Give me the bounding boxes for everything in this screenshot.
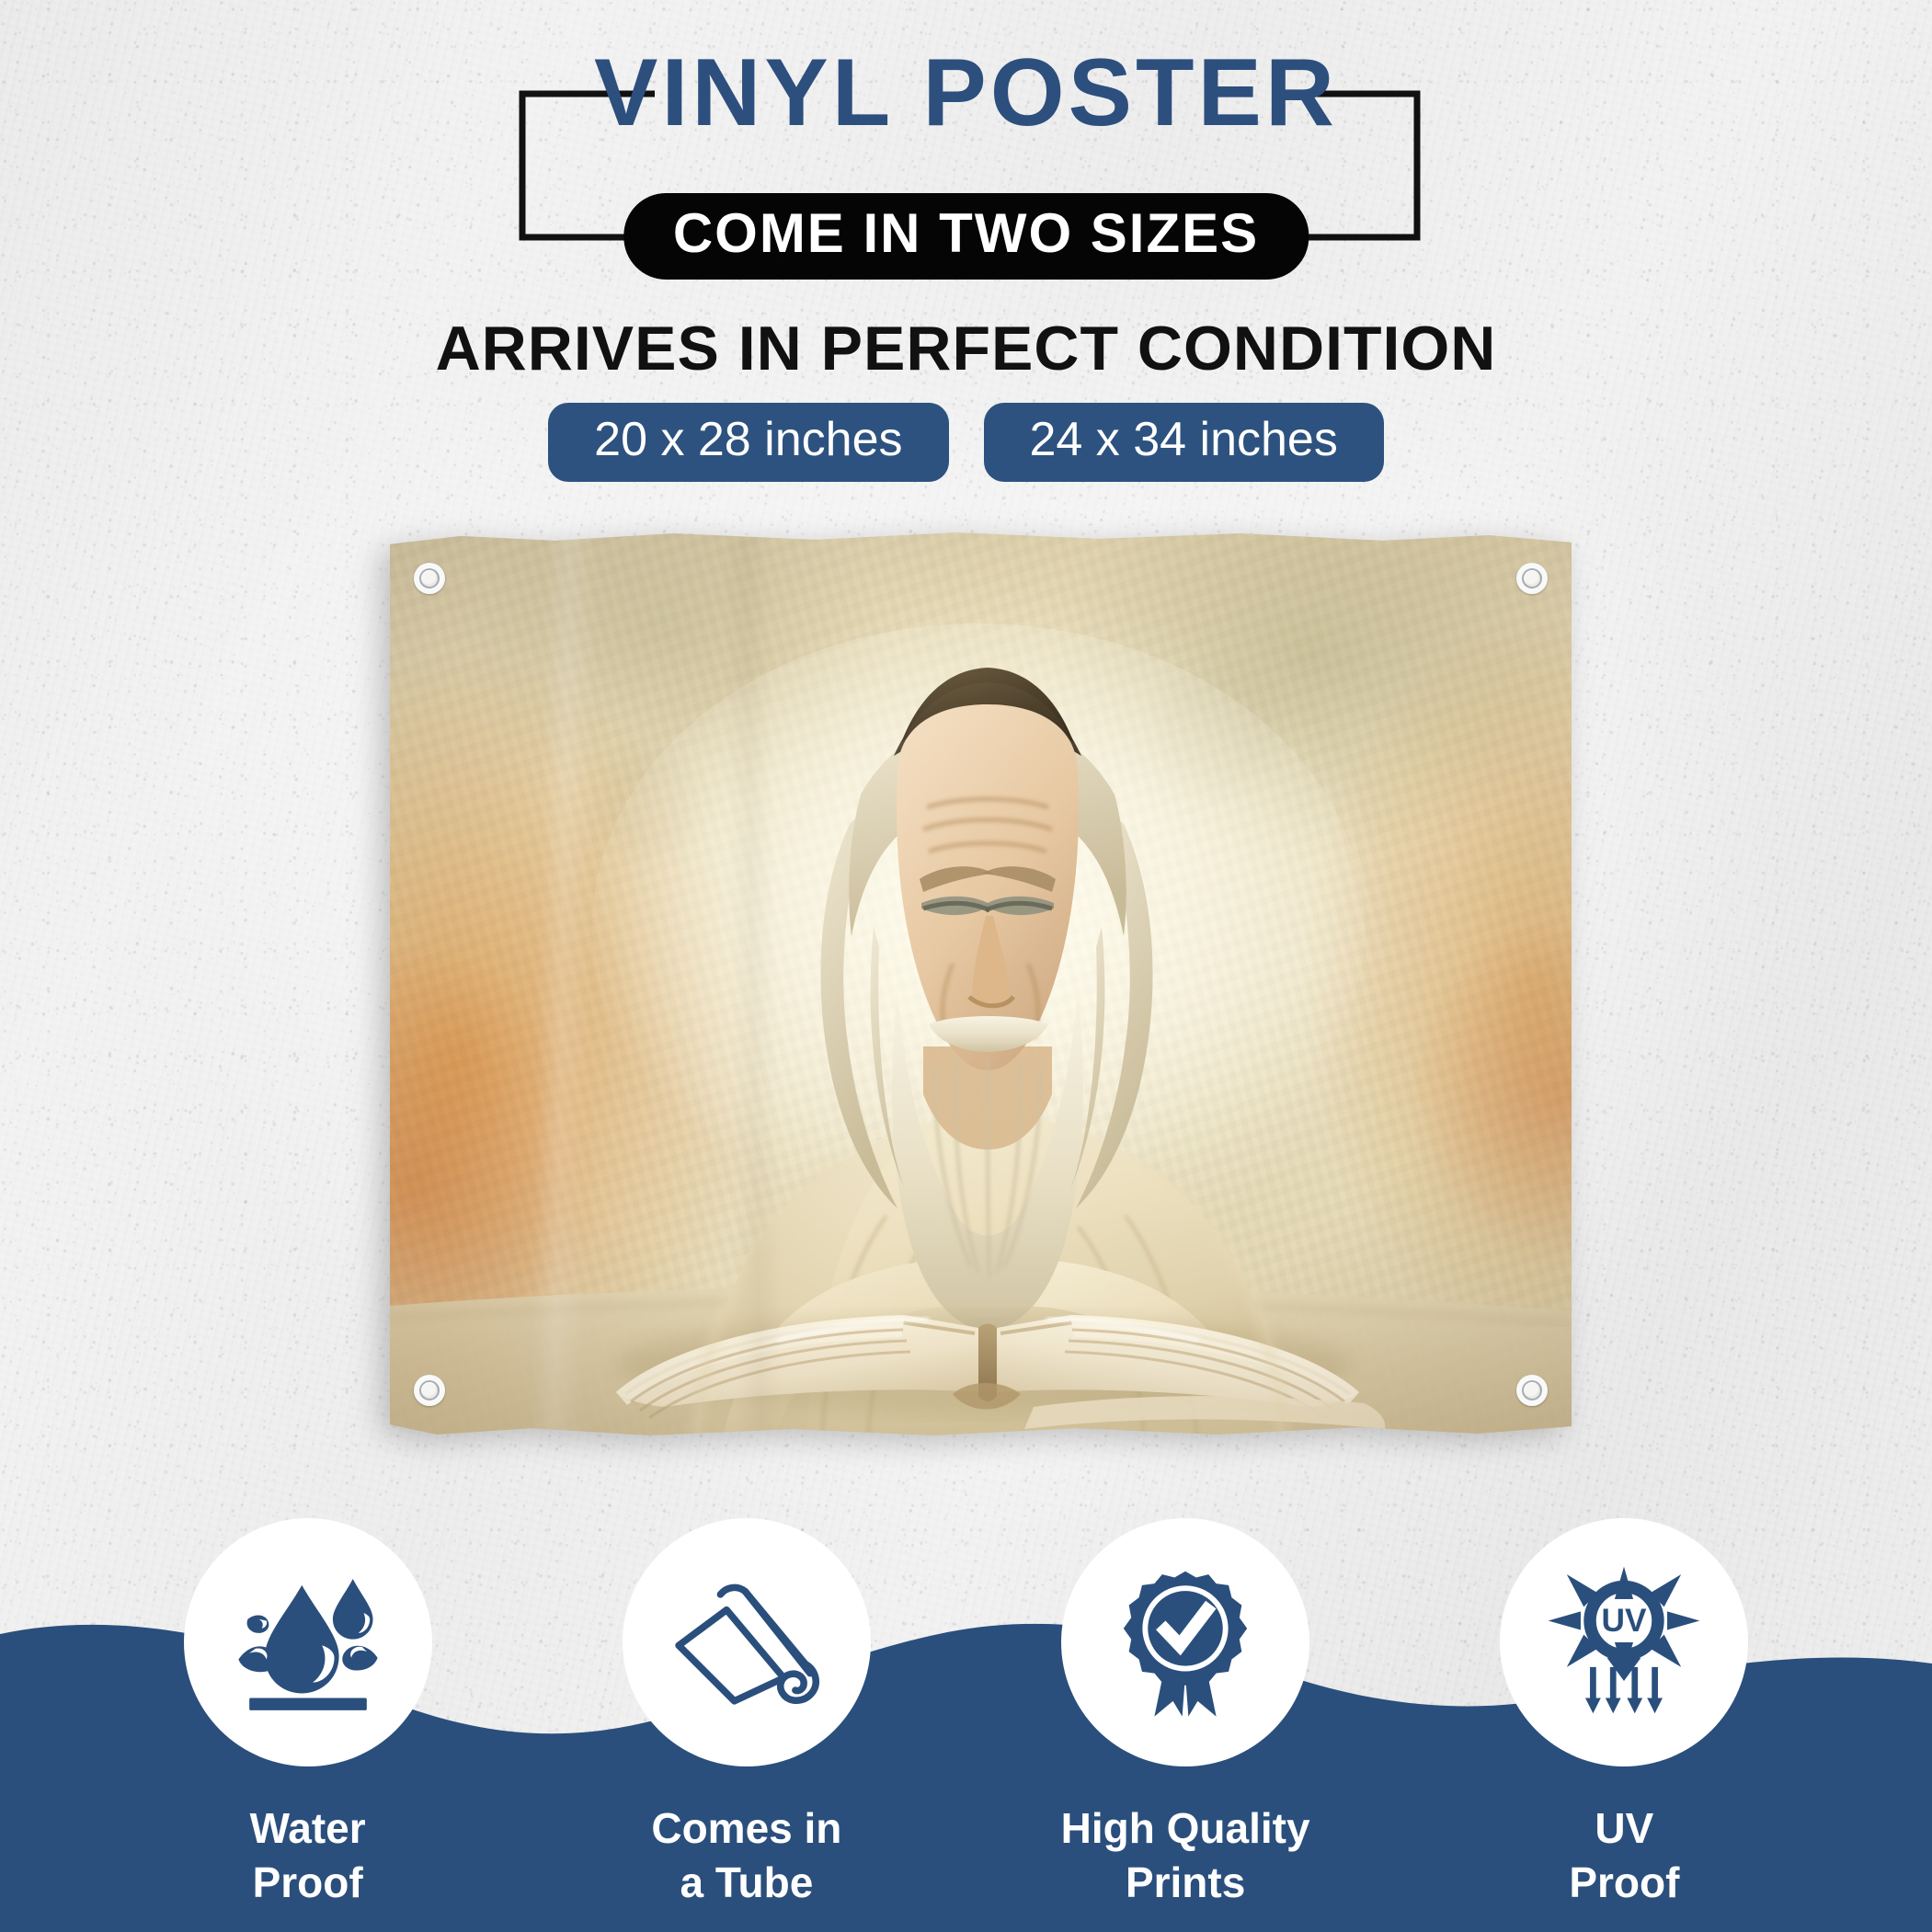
- grommet-bottom-right-icon: [1516, 1375, 1548, 1406]
- poster-mockup[interactable]: [390, 532, 1572, 1437]
- header-section: VINYL POSTER COME IN TWO SIZES ARRIVES I…: [0, 0, 1932, 515]
- feature-label: UV Proof: [1569, 1801, 1679, 1910]
- poster-vignette: [390, 532, 1572, 1437]
- page-title: VINYL POSTER: [0, 39, 1932, 148]
- size-options-row: 20 x 28 inches 24 x 34 inches: [0, 403, 1932, 482]
- condition-heading: ARRIVES IN PERFECT CONDITION: [0, 313, 1932, 384]
- feature-uv-proof[interactable]: UV UV Proof: [1405, 1518, 1844, 1910]
- sizes-pill-badge: COME IN TWO SIZES: [623, 193, 1309, 280]
- uv-label-text: UV: [1602, 1603, 1647, 1639]
- award-badge-icon: [1108, 1565, 1263, 1720]
- grommet-top-right-icon: [1516, 563, 1548, 594]
- size-badge-large[interactable]: 24 x 34 inches: [984, 403, 1384, 482]
- feature-icon-bubble: [1061, 1518, 1309, 1766]
- feature-water-proof[interactable]: Water Proof: [88, 1518, 527, 1910]
- poster-canvas: [390, 532, 1572, 1437]
- water-drop-icon: [231, 1565, 385, 1720]
- features-row: Water Proof Comes in a Tube: [0, 1491, 1932, 1932]
- feature-icon-bubble: UV: [1500, 1518, 1748, 1766]
- feature-high-quality-prints[interactable]: High Quality Prints: [966, 1518, 1405, 1910]
- feature-label: Comes in a Tube: [651, 1801, 841, 1910]
- rolled-poster-icon: [669, 1565, 824, 1720]
- size-badge-small[interactable]: 20 x 28 inches: [548, 403, 948, 482]
- feature-icon-bubble: [184, 1518, 432, 1766]
- feature-label: High Quality Prints: [1061, 1801, 1310, 1910]
- feature-label: Water Proof: [250, 1801, 366, 1910]
- feature-icon-bubble: [623, 1518, 871, 1766]
- grommet-bottom-left-icon: [414, 1375, 445, 1406]
- uv-sun-icon: UV: [1547, 1565, 1701, 1720]
- grommet-top-left-icon: [414, 563, 445, 594]
- feature-comes-in-tube[interactable]: Comes in a Tube: [527, 1518, 966, 1910]
